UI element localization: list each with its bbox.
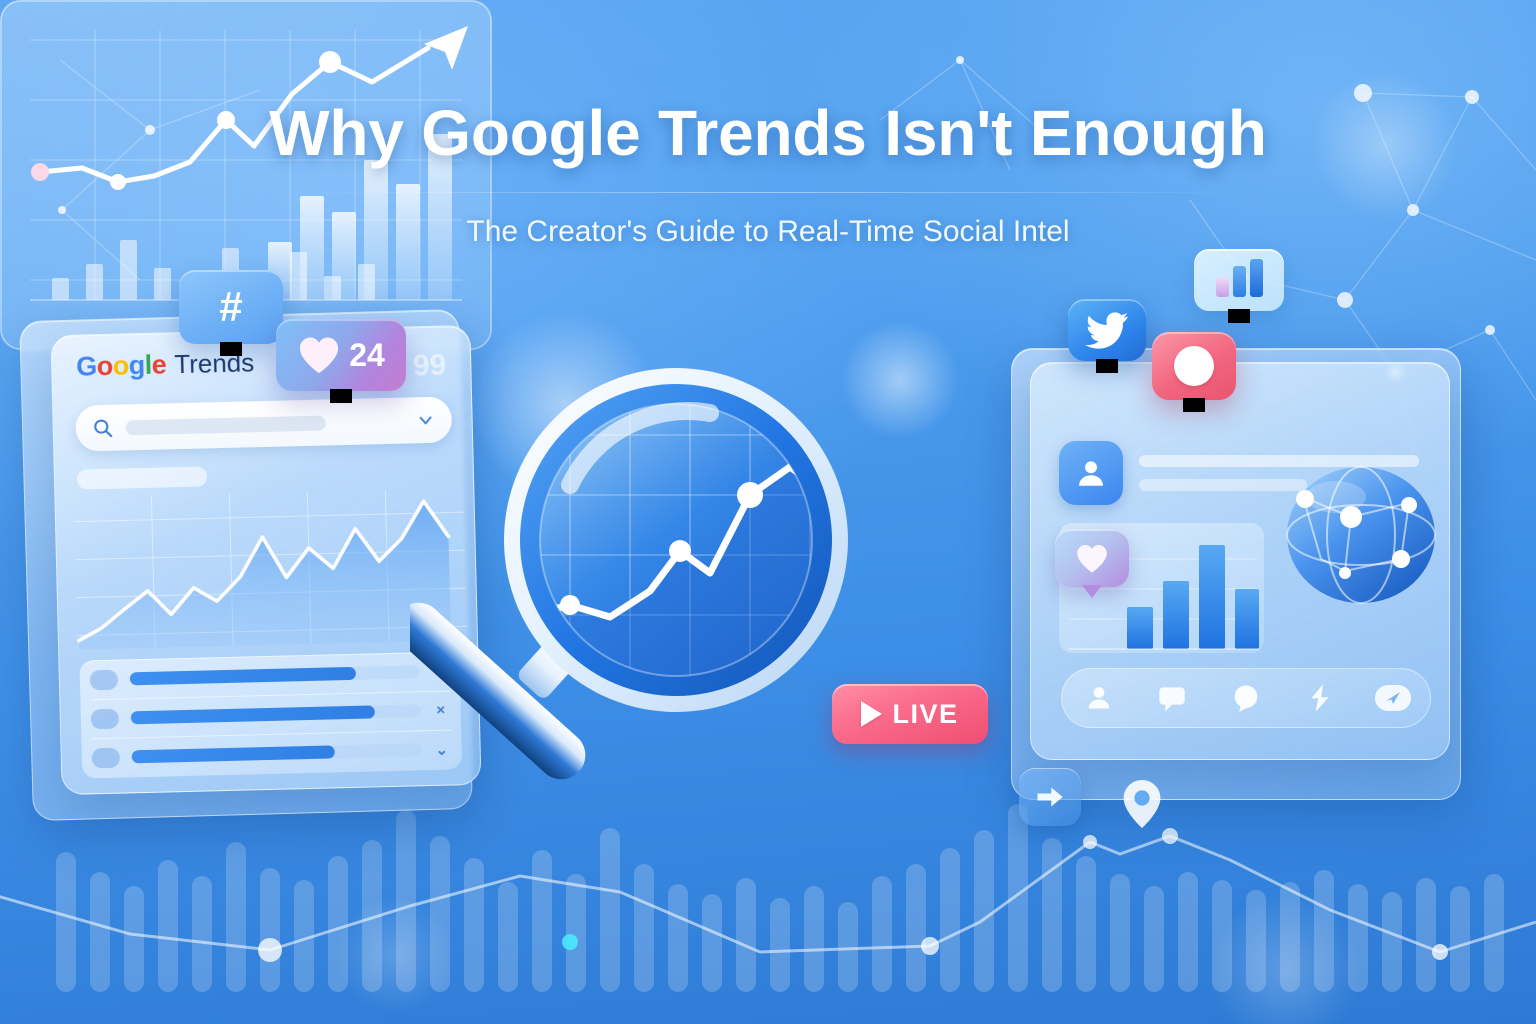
like-count: 24 bbox=[349, 337, 385, 374]
send-icon[interactable] bbox=[1372, 677, 1414, 719]
google-letter-g: G bbox=[76, 351, 97, 381]
speech-bubble-icon[interactable] bbox=[1225, 677, 1267, 719]
highlight-dot bbox=[562, 934, 578, 950]
chart-bubble[interactable] bbox=[1194, 249, 1284, 311]
twitter-bird-icon bbox=[1085, 311, 1129, 349]
avatar bbox=[90, 669, 118, 690]
social-action-bar bbox=[1061, 668, 1431, 728]
poster-header: Why Google Trends Isn't Enough The Creat… bbox=[0, 96, 1536, 249]
location-pin-icon[interactable] bbox=[1120, 778, 1164, 830]
chart-bubble-bar-3 bbox=[1250, 259, 1263, 297]
trends-area-chart bbox=[73, 488, 467, 649]
magnifier-lens bbox=[504, 368, 848, 712]
search-icon bbox=[91, 417, 114, 440]
twitter-bubble[interactable] bbox=[1068, 299, 1146, 361]
arrow-right-icon bbox=[1035, 783, 1065, 811]
list-item[interactable]: ⌄ bbox=[81, 729, 462, 777]
arrow-right-button[interactable] bbox=[1019, 768, 1081, 826]
person-icon[interactable] bbox=[1078, 677, 1120, 719]
progress-bar bbox=[130, 665, 420, 685]
google-wordmark: Google bbox=[76, 349, 167, 382]
live-label: LIVE bbox=[892, 699, 958, 730]
progress-bar bbox=[132, 743, 422, 763]
google-letter-g2: g bbox=[128, 350, 145, 380]
play-icon bbox=[861, 701, 882, 727]
engagement-panel[interactable] bbox=[1059, 523, 1264, 653]
trend-arrow-icon bbox=[424, 26, 468, 70]
glow-orb bbox=[1200, 900, 1370, 1024]
search-placeholder bbox=[126, 415, 326, 435]
lightning-bolt-icon[interactable] bbox=[1299, 677, 1341, 719]
social-dashboard-card[interactable] bbox=[1030, 362, 1450, 760]
network-globe-icon[interactable] bbox=[1281, 451, 1441, 616]
avatar bbox=[92, 747, 120, 768]
avatar bbox=[1059, 441, 1123, 505]
trends-wordmark: Trends bbox=[174, 347, 255, 380]
heart-icon bbox=[1075, 543, 1109, 574]
message-square-icon[interactable] bbox=[1151, 677, 1193, 719]
heart-bubble[interactable] bbox=[1055, 529, 1129, 587]
footer-waveform-chart bbox=[0, 794, 1536, 1024]
footer-trend-line bbox=[0, 836, 1536, 952]
page-subtitle: The Creator's Guide to Real-Time Social … bbox=[0, 215, 1536, 249]
heart-icon bbox=[297, 335, 341, 375]
trending-list: × × ⌄ bbox=[79, 651, 462, 778]
chart-bubble-bar-1 bbox=[1216, 277, 1229, 297]
instagram-dot-icon bbox=[1174, 346, 1214, 386]
header-divider bbox=[278, 192, 1258, 193]
like-count-bubble[interactable]: 24 bbox=[276, 319, 406, 391]
glow-orb bbox=[330, 900, 460, 1010]
google-letter-o1: o bbox=[96, 351, 113, 381]
instagram-bubble[interactable] bbox=[1152, 332, 1236, 400]
live-badge[interactable]: LIVE bbox=[832, 684, 988, 744]
chart-bubble-bar-2 bbox=[1233, 266, 1246, 297]
google-letter-e: e bbox=[151, 349, 166, 379]
google-letter-o2: o bbox=[112, 350, 129, 380]
hashtag-icon: # bbox=[219, 286, 242, 328]
person-icon bbox=[1074, 456, 1108, 490]
page-title: Why Google Trends Isn't Enough bbox=[0, 96, 1536, 170]
poster-canvas: Why Google Trends Isn't Enough The Creat… bbox=[0, 0, 1536, 1024]
filter-chip[interactable] bbox=[77, 466, 207, 489]
search-input[interactable] bbox=[75, 396, 452, 451]
hashtag-bubble[interactable]: # bbox=[179, 270, 283, 344]
avatar bbox=[91, 708, 119, 729]
progress-bar bbox=[131, 704, 421, 724]
